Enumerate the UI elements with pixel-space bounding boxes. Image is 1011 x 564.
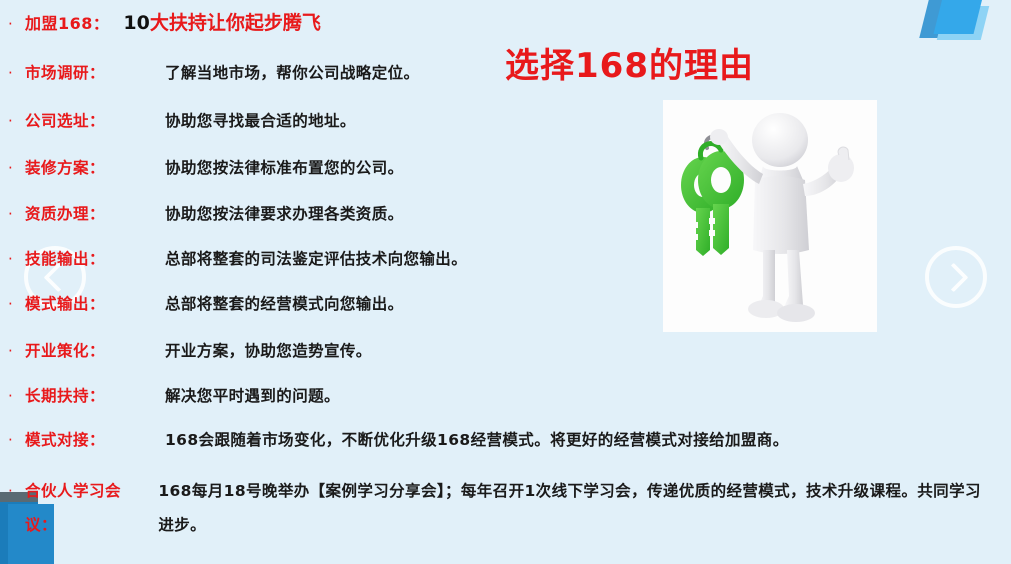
parallelogram-front-shape	[934, 0, 985, 34]
slide-canvas: 选择168的理由	[0, 0, 1011, 564]
list-item-1: · 公司选址： 协助您寻找最合适的地址。	[8, 109, 356, 131]
list-item-label: 市场调研：	[25, 61, 165, 83]
decorative-parallelograms	[921, 0, 1011, 60]
keys-thumbsup-image	[663, 100, 877, 332]
list-item-label: 模式对接：	[25, 428, 165, 450]
bullet-marker: ·	[8, 484, 25, 499]
list-item-label: 长期扶持：	[25, 384, 165, 406]
list-item-desc: 了解当地市场，帮你公司战略定位。	[165, 61, 419, 83]
bullet-marker: ·	[8, 297, 25, 312]
list-item-0: · 市场调研： 了解当地市场，帮你公司战略定位。	[8, 61, 419, 83]
parallelogram-light-shape	[937, 6, 989, 40]
intro-label: 加盟168：	[25, 10, 109, 34]
list-item-label: 技能输出：	[25, 247, 165, 269]
list-item-2: · 装修方案： 协助您按法律标准布置您的公司。	[8, 156, 404, 178]
bullet-marker: ·	[8, 66, 25, 81]
bullet-marker: ·	[8, 344, 25, 359]
page-title: 选择168的理由	[505, 38, 754, 87]
bullet-marker: ·	[8, 161, 25, 176]
list-item-6: · 开业策化： 开业方案，协助您造势宣传。	[8, 339, 372, 361]
list-item-desc: 168每月18号晚举办【案例学习分享会】；每年召开1次线下学习会，传递优质的经营…	[158, 474, 983, 542]
list-item-desc: 协助您按法律标准布置您的公司。	[165, 156, 404, 178]
list-item-desc: 开业方案，协助您造势宣传。	[165, 339, 372, 361]
bullet-marker: ·	[8, 433, 25, 448]
list-item-3: · 资质办理： 协助您按法律要求办理各类资质。	[8, 202, 404, 224]
list-item-label: 模式输出：	[25, 292, 165, 314]
list-item-label: 开业策化：	[25, 339, 165, 361]
bullet-marker: ·	[8, 17, 25, 32]
list-item-intro: · 加盟168： 10 大扶持让你起步腾飞	[8, 8, 321, 35]
bullet-marker: ·	[8, 114, 25, 129]
next-slide-button[interactable]	[925, 246, 987, 308]
list-item-label: 合伙人学习会议：	[25, 474, 146, 542]
list-item-label: 装修方案：	[25, 156, 165, 178]
bullet-marker: ·	[8, 207, 25, 222]
list-item-desc: 协助您按法律要求办理各类资质。	[165, 202, 404, 224]
list-item-4: · 技能输出： 总部将整套的司法鉴定评估技术向您输出。	[8, 247, 467, 269]
list-item-final: · 合伙人学习会议： 168每月18号晚举办【案例学习分享会】；每年召开1次线下…	[8, 474, 983, 542]
list-item-7: · 长期扶持： 解决您平时遇到的问题。	[8, 384, 340, 406]
list-item-desc: 协助您寻找最合适的地址。	[165, 109, 356, 131]
bullet-marker: ·	[8, 252, 25, 267]
parallelogram-back-shape	[919, 0, 964, 38]
intro-emphasis: 大扶持让你起步腾飞	[150, 8, 321, 35]
list-item-label: 资质办理：	[25, 202, 165, 224]
list-item-desc: 168会跟随着市场变化，不断优化升级168经营模式。将更好的经营模式对接给加盟商…	[165, 428, 789, 450]
list-item-8: · 模式对接： 168会跟随着市场变化，不断优化升级168经营模式。将更好的经营…	[8, 428, 789, 450]
list-item-desc: 总部将整套的经营模式向您输出。	[165, 292, 404, 314]
list-item-5: · 模式输出： 总部将整套的经营模式向您输出。	[8, 292, 404, 314]
list-item-desc: 总部将整套的司法鉴定评估技术向您输出。	[165, 247, 467, 269]
bullet-marker: ·	[8, 389, 25, 404]
chevron-right-icon	[938, 262, 968, 292]
list-item-label: 公司选址：	[25, 109, 165, 131]
intro-number: 10	[123, 12, 149, 34]
list-item-desc: 解决您平时遇到的问题。	[165, 384, 340, 406]
